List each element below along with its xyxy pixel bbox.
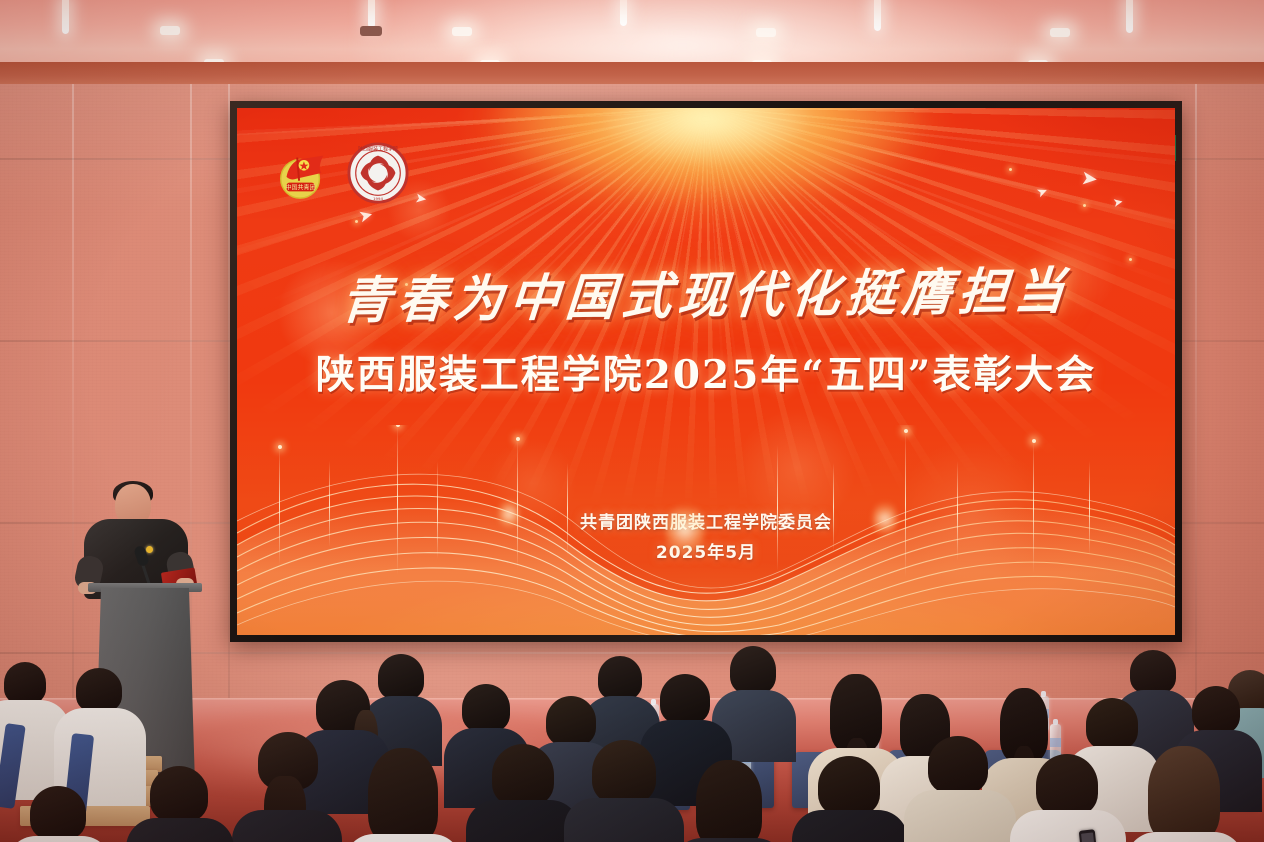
person-hair xyxy=(1192,686,1240,734)
svg-text:中国共青团: 中国共青团 xyxy=(286,183,316,191)
seated-audience xyxy=(0,640,1264,842)
light-streak xyxy=(329,461,330,547)
person-hair xyxy=(696,760,762,842)
svg-text:1994: 1994 xyxy=(373,196,383,201)
glow-sphere xyxy=(873,499,897,539)
sparkle xyxy=(1009,168,1012,171)
smartphone xyxy=(1079,829,1098,842)
wall-upper-band xyxy=(0,62,1264,84)
light-streak xyxy=(567,463,568,555)
svg-text:陕西服装工程学院: 陕西服装工程学院 xyxy=(358,146,398,153)
person-hair xyxy=(4,662,46,704)
person-shoulders xyxy=(672,838,786,842)
person-shoulders xyxy=(904,790,1016,842)
light-streak xyxy=(1033,441,1034,573)
ceiling-downlight xyxy=(452,27,472,36)
person-hair xyxy=(1130,650,1176,694)
light-dot xyxy=(278,445,282,449)
communist-youth-league-emblem: 中国共青团 xyxy=(273,144,331,202)
light-dot xyxy=(904,429,908,433)
person-hair xyxy=(730,646,776,694)
light-streak xyxy=(777,445,778,571)
person-hair xyxy=(546,696,596,746)
person-shoulders xyxy=(232,810,342,842)
person-hair xyxy=(462,684,510,732)
ribbon-waves xyxy=(237,425,1175,635)
pendant-light xyxy=(620,0,627,26)
person-hair xyxy=(368,748,438,842)
person-shoulders xyxy=(1010,810,1126,842)
person-hair xyxy=(592,740,656,804)
person-hair xyxy=(30,786,86,840)
dove-icon: ➤ xyxy=(1112,195,1124,209)
light-streak xyxy=(279,447,280,565)
light-streak xyxy=(957,461,958,561)
light-streak xyxy=(1089,461,1090,555)
light-streak xyxy=(437,461,438,559)
lapel-badge xyxy=(146,546,153,553)
person-hair xyxy=(818,756,880,816)
banner-subheadline: 陕西服装工程学院2025年“五四”表彰大会 xyxy=(237,344,1175,400)
person-shoulders xyxy=(1126,832,1244,842)
person-hair xyxy=(1148,746,1220,842)
bottle-label xyxy=(1050,738,1061,747)
pendant-cap xyxy=(360,26,382,36)
glow-sphere xyxy=(665,501,705,559)
person-hair xyxy=(598,656,642,700)
person-shoulders xyxy=(344,834,462,842)
sparkle xyxy=(355,220,358,223)
school-emblem: 陕西服装工程学院 1994 xyxy=(347,142,409,204)
person-hair xyxy=(76,668,122,712)
person-hair xyxy=(150,766,208,822)
person-hair xyxy=(928,736,988,794)
dove-icon: ➤ xyxy=(1080,167,1099,189)
person-shoulders xyxy=(792,810,908,842)
glow-sphere xyxy=(499,497,519,531)
ceiling-downlight xyxy=(160,26,180,35)
person-shoulders xyxy=(564,798,684,842)
dove-icon: ➤ xyxy=(414,191,428,206)
photo-scene: ➤ ➤ ➤ ➤ ➤ 中国共青团 xyxy=(0,0,1264,842)
sparkle xyxy=(1083,204,1086,207)
person-hair xyxy=(378,654,424,700)
ceiling-downlight xyxy=(1050,28,1070,37)
banner-headline: 青春为中国式现代化挺膺担当 xyxy=(237,249,1175,334)
person-hair xyxy=(1036,754,1098,816)
pendant-light xyxy=(62,0,69,34)
pendant-light xyxy=(874,0,881,31)
light-streak xyxy=(833,463,834,551)
ceiling-downlight xyxy=(756,28,776,37)
pendant-light xyxy=(1126,0,1133,33)
light-streak xyxy=(905,431,906,577)
led-screen: ➤ ➤ ➤ ➤ ➤ 中国共青团 xyxy=(237,108,1175,635)
person-shoulders xyxy=(466,800,580,842)
light-dot xyxy=(1032,439,1036,443)
person-hair xyxy=(1086,698,1138,750)
light-dot xyxy=(516,437,520,441)
person-hair xyxy=(660,674,710,724)
person-hair xyxy=(492,744,554,806)
person-shoulders xyxy=(6,836,112,842)
light-streak xyxy=(397,425,398,575)
emblem-group: 中国共青团 陕西服装工程学院 1994 xyxy=(273,142,409,204)
pendant-light xyxy=(368,0,375,28)
person-shoulders xyxy=(126,818,234,842)
